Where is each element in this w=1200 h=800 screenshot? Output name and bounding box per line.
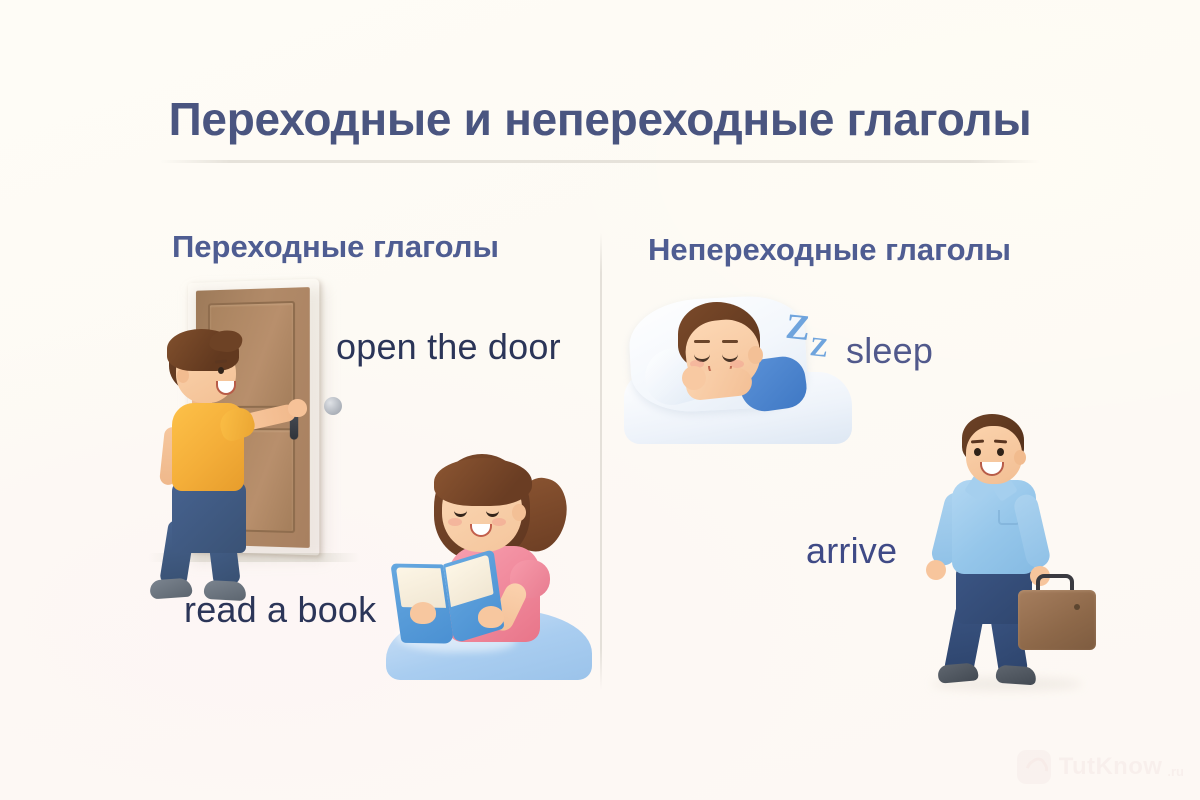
infographic-canvas: Переходные и непереходные глаголы Перехо… — [0, 0, 1200, 800]
sleeping-boy-cheek-right — [730, 360, 744, 368]
girl-hand-right — [478, 606, 504, 628]
man-ear — [1014, 450, 1026, 465]
girl-ear — [512, 504, 526, 521]
column-divider — [600, 232, 602, 690]
column-heading-intransitive: Непереходные глаголы — [648, 232, 1011, 268]
example-label-sleep: sleep — [846, 330, 933, 372]
watermark: TutKnow .ru — [1017, 750, 1184, 784]
example-label-read-a-book: read a book — [184, 589, 376, 631]
example-label-arrive: arrive — [806, 530, 897, 572]
tutknow-logo-icon — [1017, 750, 1051, 784]
book — [391, 553, 505, 647]
girl-hand-left — [410, 602, 436, 624]
sleep-z-large-icon: Z — [784, 305, 812, 349]
boy-sleeping-illustration: Z Z — [624, 292, 852, 444]
man-hand-back — [926, 560, 946, 580]
man-shoe-back — [937, 662, 978, 683]
boy-figure — [148, 331, 280, 567]
girl-cheek-right — [492, 518, 506, 526]
boy-pants — [172, 481, 246, 553]
sleeping-boy-ear — [748, 346, 763, 364]
column-heading-transitive: Переходные глаголы — [172, 229, 499, 265]
girl-cheek-left — [448, 518, 462, 526]
girl-reading-book-illustration — [392, 442, 592, 680]
boy-eye — [218, 367, 224, 374]
sleeping-boy-eyebrow-left — [694, 340, 710, 343]
sleeping-boy-hand — [682, 366, 706, 390]
man-shoe-front — [995, 665, 1036, 686]
girl-hair-fringe — [434, 458, 532, 506]
page-title: Переходные и непереходные глаголы — [0, 92, 1200, 146]
man-eye-right — [997, 448, 1004, 456]
boy-hand — [288, 399, 307, 417]
example-label-open-the-door: open the door — [336, 326, 561, 368]
boy-opening-door-illustration — [148, 275, 378, 580]
sleep-z-small-icon: Z — [808, 331, 829, 364]
watermark-tld: .ru — [1167, 764, 1184, 779]
man-eye-left — [974, 448, 981, 456]
title-divider — [160, 160, 1040, 163]
door-knob-icon — [324, 397, 342, 415]
briefcase-clasp-icon — [1074, 604, 1080, 610]
watermark-brand: TutKnow — [1059, 753, 1163, 781]
sleeping-boy-eyebrow-right — [722, 340, 738, 343]
briefcase — [1018, 590, 1096, 650]
man-arriving-illustration — [922, 414, 1098, 686]
boy-smile — [216, 381, 236, 395]
